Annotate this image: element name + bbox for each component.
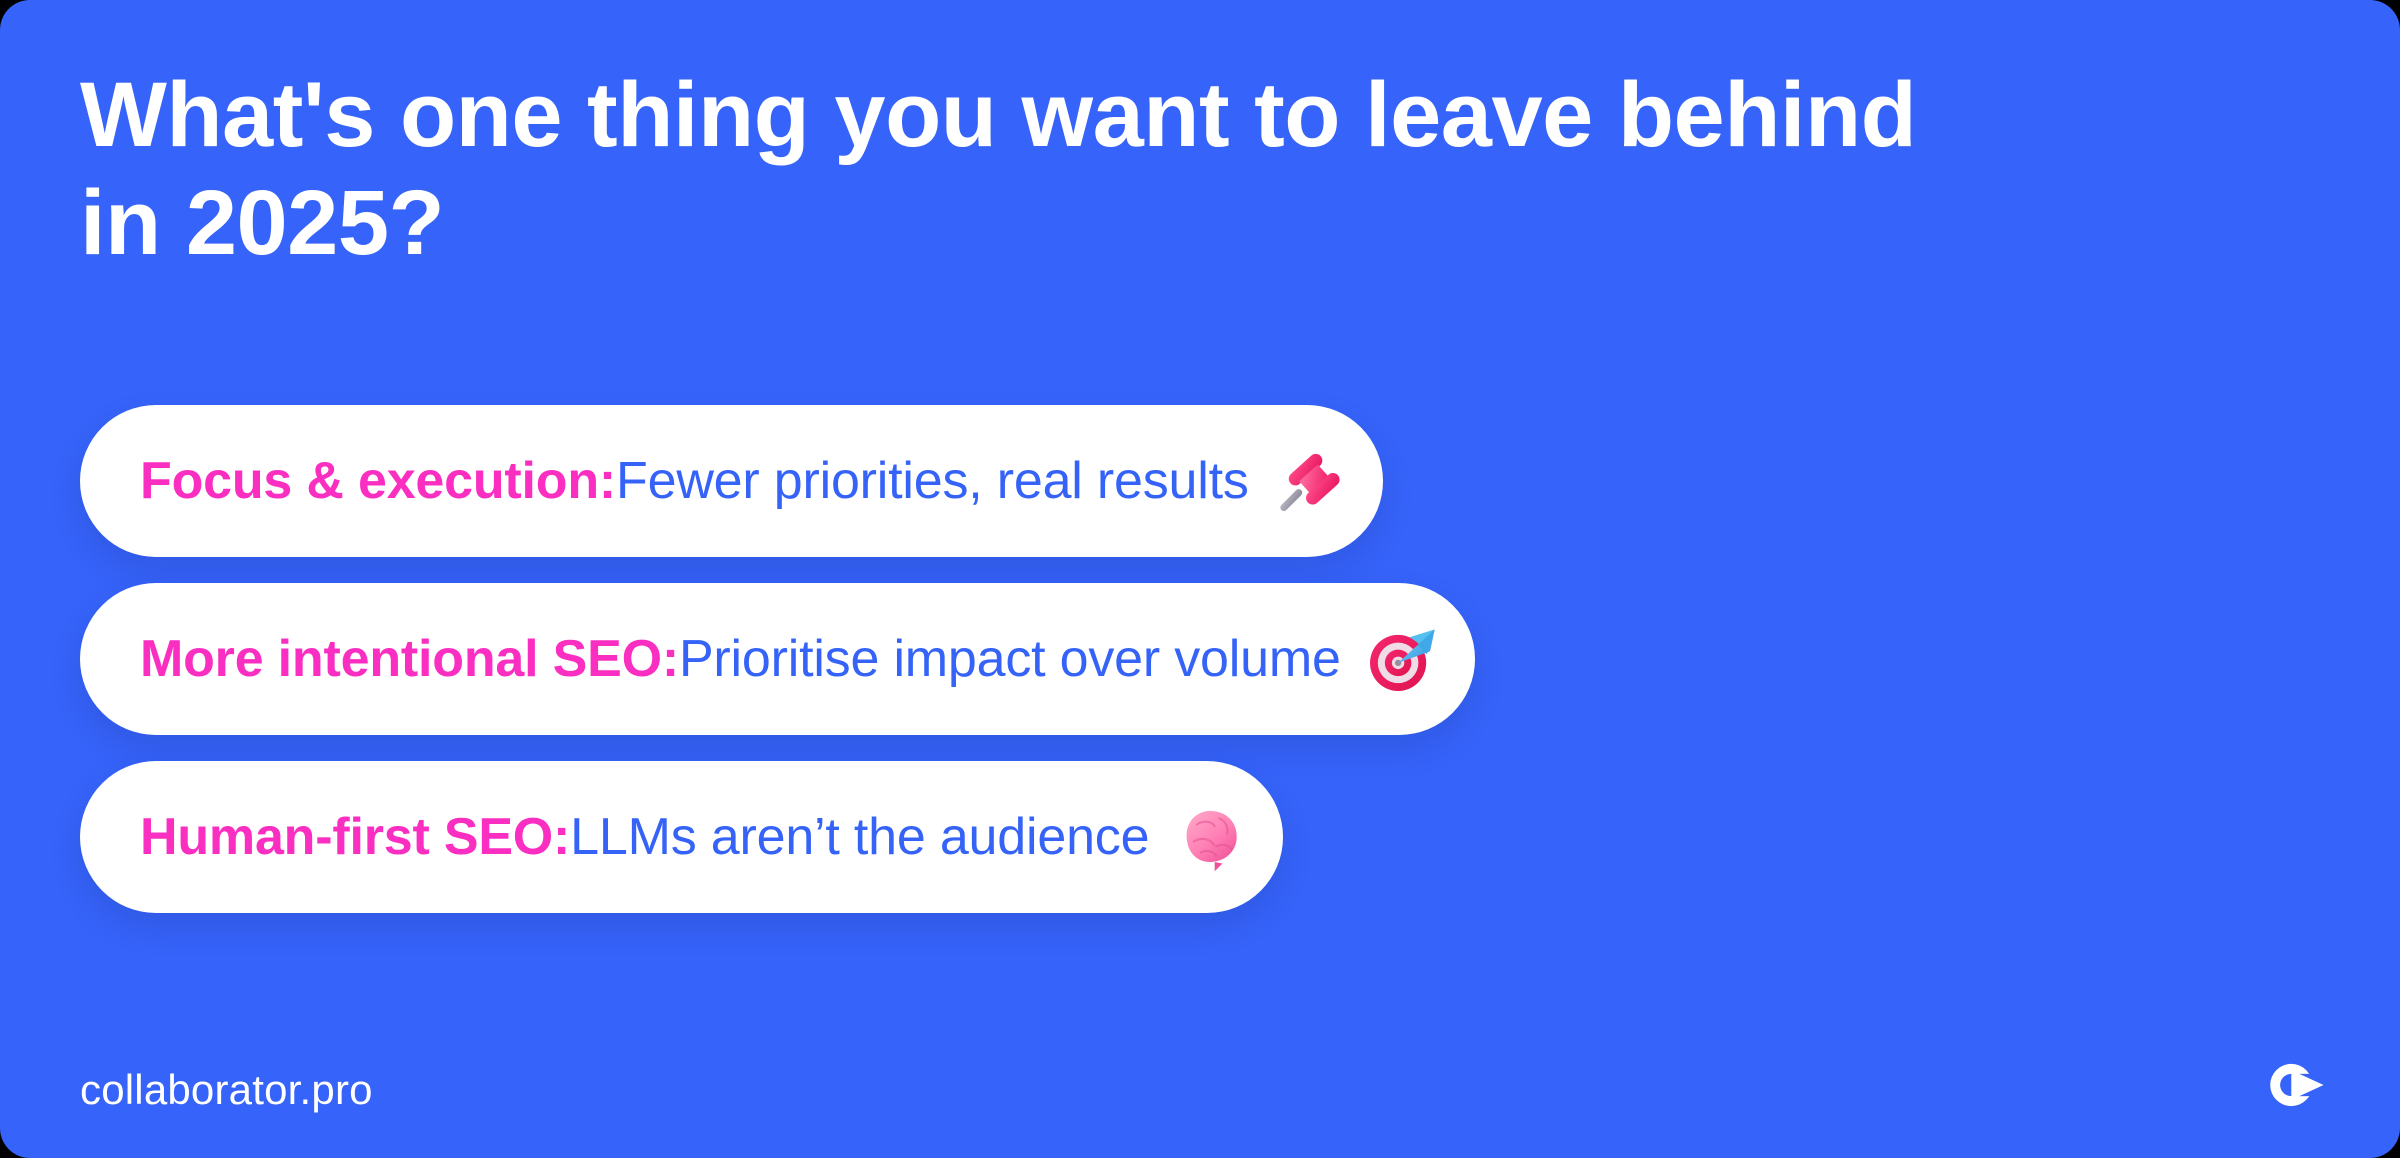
page-title: What's one thing you want to leave behin… — [80, 62, 1960, 277]
collaborator-logo-icon — [2264, 1054, 2326, 1116]
slide-canvas: What's one thing you want to leave behin… — [0, 0, 2400, 1158]
pushpin-icon — [1271, 442, 1349, 520]
brain-icon — [1171, 798, 1249, 876]
list-item-label: Focus & execution: — [140, 455, 616, 507]
card-list: Focus & execution: Fewer priorities, rea… — [80, 405, 1475, 939]
list-item-focus-execution[interactable]: Focus & execution: Fewer priorities, rea… — [80, 405, 1383, 557]
list-item-wrapper: Human-first SEO: LLMs aren’t the audienc… — [80, 761, 1475, 939]
list-item-body: Fewer priorities, real results — [616, 455, 1249, 507]
list-item-label: Human-first SEO: — [140, 811, 570, 863]
footer-website-url[interactable]: collaborator.pro — [80, 1066, 373, 1114]
list-item-body: Prioritise impact over volume — [679, 633, 1341, 685]
list-item-intentional-seo[interactable]: More intentional SEO: Prioritise impact … — [80, 583, 1475, 735]
list-item-human-first-seo[interactable]: Human-first SEO: LLMs aren’t the audienc… — [80, 761, 1283, 913]
list-item-wrapper: More intentional SEO: Prioritise impact … — [80, 583, 1475, 761]
list-item-wrapper: Focus & execution: Fewer priorities, rea… — [80, 405, 1475, 583]
dart-icon — [1363, 620, 1441, 698]
list-item-body: LLMs aren’t the audience — [570, 811, 1149, 863]
list-item-label: More intentional SEO: — [140, 633, 679, 685]
